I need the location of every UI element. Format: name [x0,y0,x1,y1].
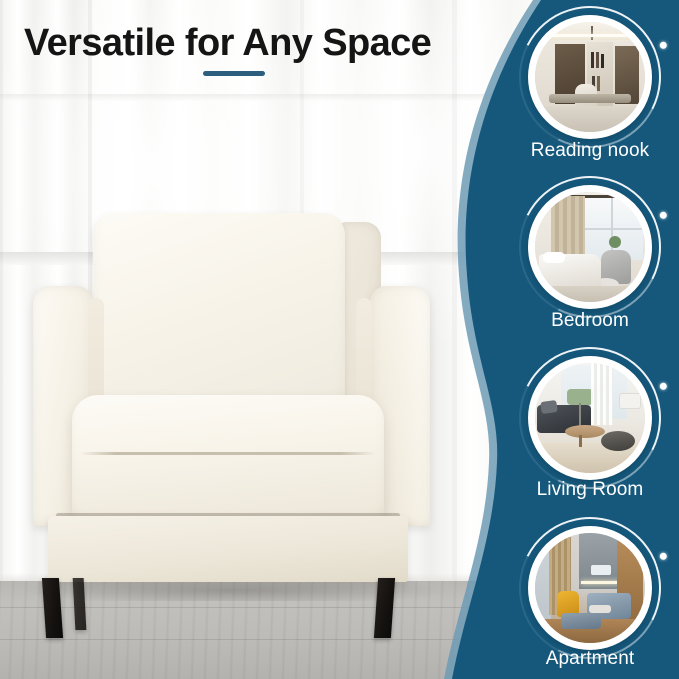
chair-base-skirt [48,516,408,582]
ring-dot-icon [659,552,668,561]
feature-circle-bedroom[interactable] [528,185,652,309]
chair-back-cushion [93,213,345,415]
marketing-poster: Versatile for Any Space Reading nook [0,0,679,679]
ring-dot-icon [659,382,668,391]
accent-armchair [0,0,560,679]
apartment-thumbnail [535,533,645,643]
chair-leg-front-left [42,578,63,638]
living-room-thumbnail [535,363,645,473]
ring-dot-icon [659,211,668,220]
product-photo [0,0,560,679]
feature-label-apartment: Apartment [460,648,679,670]
chair-seat-piping [80,452,376,455]
chair-seat-cushion [72,395,384,527]
headline-underline-accent [203,71,265,76]
feature-label-reading-nook: Reading nook [460,140,679,162]
feature-circle-apartment[interactable] [528,526,652,650]
chair-leg-rear-left [73,578,87,630]
ring-dot-icon [659,41,668,50]
page-title: Versatile for Any Space [24,22,431,65]
feature-circle-living-room[interactable] [528,356,652,480]
feature-circle-reading-nook[interactable] [528,15,652,139]
reading-nook-thumbnail [535,22,645,132]
bedroom-thumbnail [535,192,645,302]
chair-leg-front-right [374,578,395,638]
feature-label-bedroom: Bedroom [460,310,679,332]
feature-label-living-room: Living Room [460,479,679,501]
